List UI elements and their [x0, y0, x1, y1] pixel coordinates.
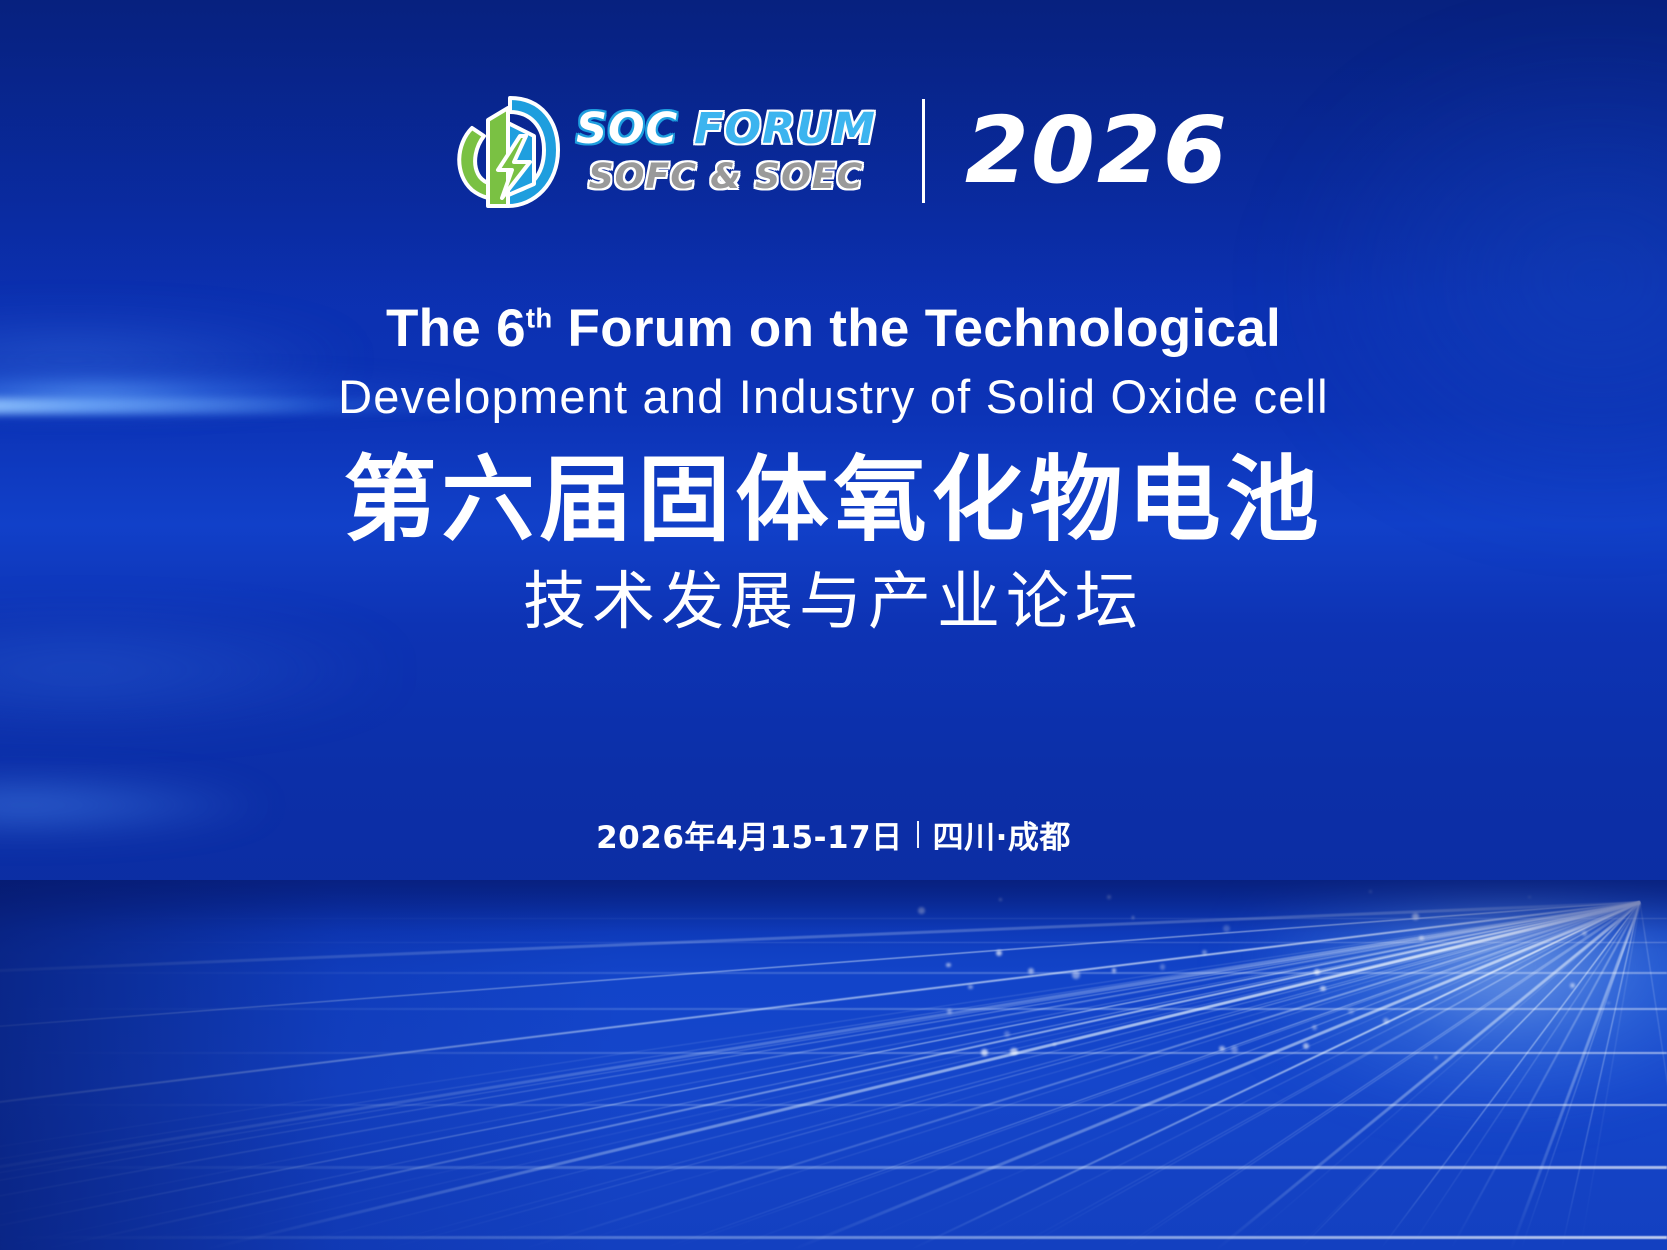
floor-sparkle — [1160, 964, 1165, 969]
floor-sparkle — [1348, 1009, 1353, 1014]
title-chinese-line2: 技术发展与产业论坛 — [0, 564, 1667, 640]
floor-sparkle — [1607, 1002, 1610, 1005]
perspective-grid-floor — [0, 880, 1667, 1250]
logo-subtitle: SOFC & SOEC — [588, 160, 863, 195]
logo-title-forum: FORUM — [694, 104, 876, 154]
logo-row: SOC FORUM SOFC & SOEC 2026 — [0, 92, 1667, 210]
title-english-line2: Development and Industry of Solid Oxide … — [0, 371, 1667, 423]
floor-sparkle — [1202, 950, 1207, 955]
floor-sparkle — [1320, 986, 1325, 991]
floor-sparkle — [1231, 1046, 1238, 1053]
floor-sparkle — [1028, 968, 1034, 974]
soc-forum-logo-icon — [438, 92, 562, 210]
floor-sparkle — [1219, 1046, 1224, 1051]
logo-divider — [922, 99, 925, 203]
title-block: The 6th Forum on the Technological Devel… — [0, 300, 1667, 639]
event-meta: 2026年4月15-17日 四川·成都 — [0, 812, 1667, 857]
floor-sparkle — [1072, 971, 1079, 978]
conference-banner: SOC FORUM SOFC & SOEC 2026 The 6th Forum… — [0, 0, 1667, 1250]
floor-sparkle — [1004, 1031, 1010, 1037]
logo-year: 2026 — [965, 105, 1229, 197]
floor-sparkle — [947, 1009, 952, 1014]
floor-sparkle — [1314, 969, 1320, 975]
title-english-suffix: Forum on the Technological — [553, 299, 1282, 358]
logo-wordmark: SOC FORUM SOFC & SOEC — [576, 108, 876, 195]
floor-sparkle — [996, 950, 1002, 956]
logo-title-soc: SOC — [576, 104, 694, 154]
title-chinese-line1: 第六届固体氧化物电池 — [0, 447, 1667, 554]
floor-sparkle — [1312, 1025, 1317, 1030]
title-english-prefix: The 6 — [386, 299, 526, 358]
event-venue: 四川·成都 — [933, 812, 1071, 857]
title-ordinal-suffix: th — [526, 302, 553, 333]
logo-title: SOC FORUM — [576, 108, 876, 151]
floor-left-falloff — [0, 880, 620, 1250]
event-date: 2026年4月15-17日 — [596, 812, 903, 857]
title-english-line1: The 6th Forum on the Technological — [0, 300, 1667, 357]
meta-divider — [917, 821, 919, 848]
floor-sparkle — [1010, 1048, 1017, 1055]
floor-sparkle — [946, 963, 950, 967]
